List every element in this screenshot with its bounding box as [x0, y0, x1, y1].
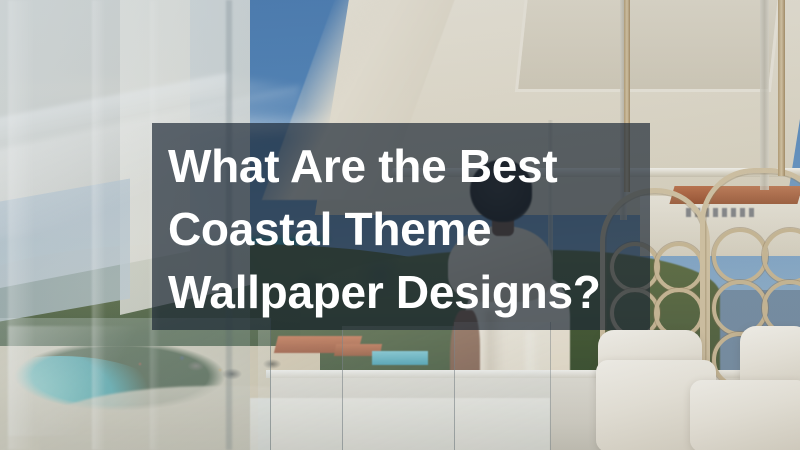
rattan-ring [654, 242, 704, 292]
page-title: What Are the Best Coastal Theme Wallpape… [168, 135, 634, 324]
glass-balustrade-panel [454, 322, 551, 450]
chair-cushion [690, 380, 800, 450]
headline-overlay: What Are the Best Coastal Theme Wallpape… [152, 123, 650, 330]
hero-image-container: What Are the Best Coastal Theme Wallpape… [0, 0, 800, 450]
rattan-ring [712, 228, 768, 284]
chair-hanging-rope [778, 0, 785, 176]
glass-reflection [8, 0, 34, 450]
ceiling-recess [515, 0, 781, 92]
window-mullion [760, 0, 769, 190]
glass-reflection [92, 0, 106, 450]
glass-balustrade-panel [342, 326, 455, 450]
